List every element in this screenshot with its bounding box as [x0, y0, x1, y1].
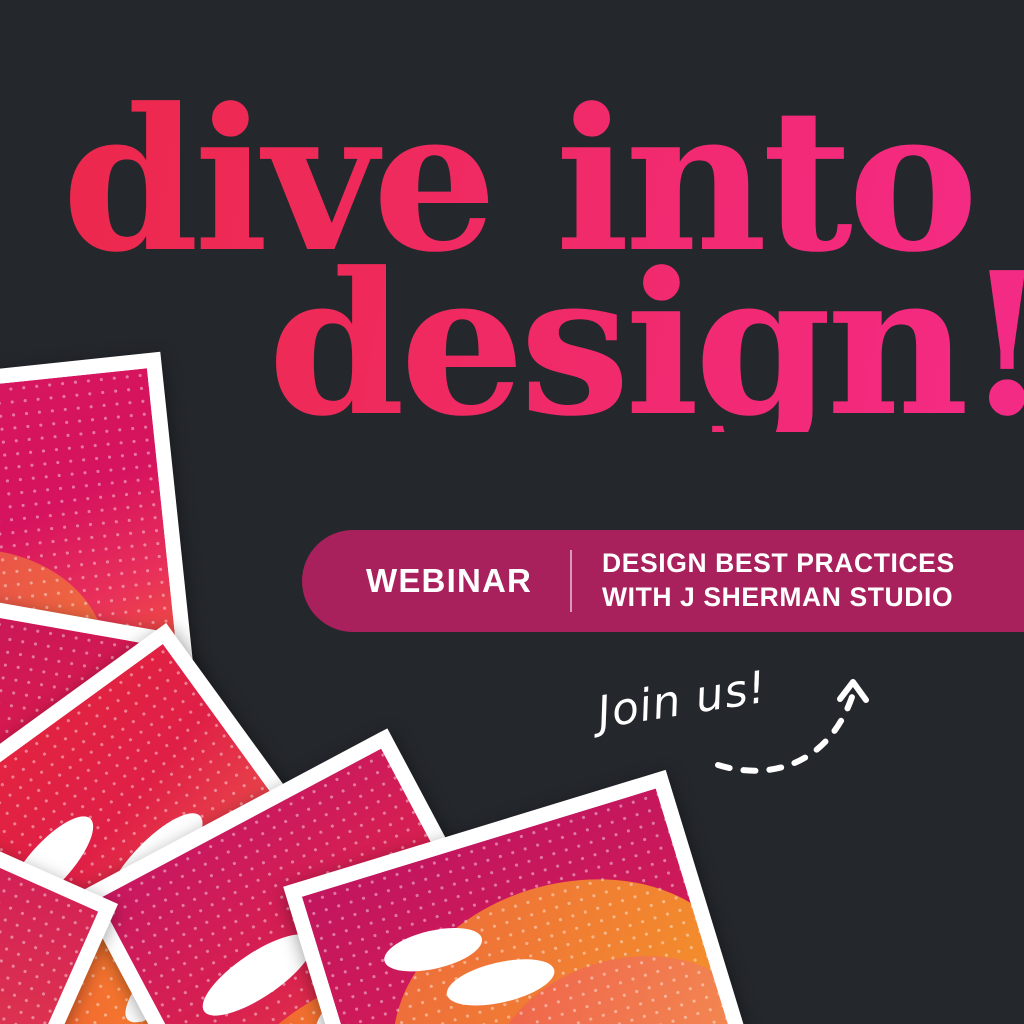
banner-tag-label: WEBINAR: [302, 562, 570, 600]
banner-detail-line-2: WITH J SHERMAN STUDIO: [602, 581, 955, 615]
photo-card-collage: [0, 0, 1024, 1024]
banner-detail: DESIGN BEST PRACTICES WITH J SHERMAN STU…: [572, 547, 955, 615]
webinar-banner: WEBINAR DESIGN BEST PRACTICES WITH J SHE…: [302, 530, 1024, 632]
banner-detail-line-1: DESIGN BEST PRACTICES: [602, 547, 955, 581]
promo-poster: dive into design! WEBINAR DESIGN BEST PR…: [0, 0, 1024, 1024]
